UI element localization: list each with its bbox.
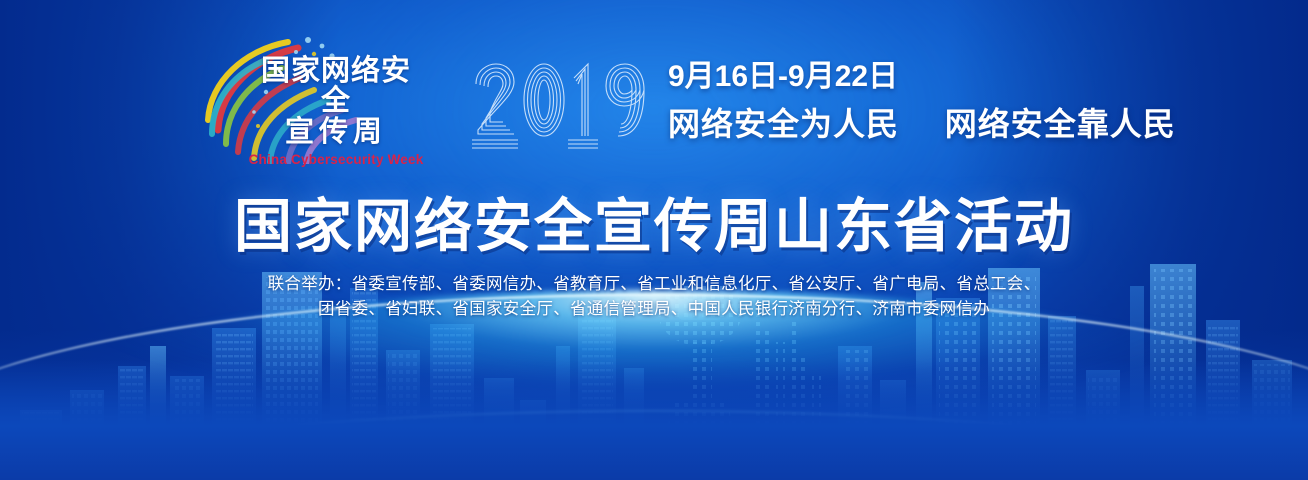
slogan: 网络安全为人民 网络安全靠人民 [668, 108, 1176, 140]
slogan-left: 网络安全为人民 [668, 106, 899, 142]
logo-line2: 宣传周 [248, 116, 424, 148]
logo-english: China Cybersecurity Week [248, 152, 424, 167]
year-2019 [472, 60, 652, 160]
organizers-block: 联合举办：省委宣传部、省委网信办、省教育厅、省工业和信息化厅、省公安厅、省广电局… [0, 272, 1308, 322]
organizers-line-1: 联合举办：省委宣传部、省委网信办、省教育厅、省工业和信息化厅、省公安厅、省广电局… [0, 272, 1308, 297]
cybersecurity-week-swoosh-logo: 国家网络安全 宣传周 China Cybersecurity Week [196, 34, 428, 164]
banner-content: 国家网络安全 宣传周 China Cybersecurity Week [0, 0, 1308, 480]
logo-text: 国家网络安全 宣传周 China Cybersecurity Week [248, 56, 424, 167]
page-title: 国家网络安全宣传周山东省活动 [0, 196, 1308, 259]
logo-line1: 国家网络安全 [248, 56, 424, 116]
organizers-line-2: 团省委、省妇联、省国家安全厅、省通信管理局、中国人民银行济南分行、济南市委网信办 [0, 297, 1308, 322]
cybersecurity-week-banner: 国家网络安全 宣传周 China Cybersecurity Week [0, 0, 1308, 480]
year-striped-glyphs [472, 60, 652, 160]
date-slogan-block: 9月16日-9月22日 网络安全为人民 网络安全靠人民 [668, 62, 1176, 140]
date-range: 9月16日-9月22日 [668, 62, 1176, 92]
slogan-right: 网络安全靠人民 [945, 106, 1176, 142]
